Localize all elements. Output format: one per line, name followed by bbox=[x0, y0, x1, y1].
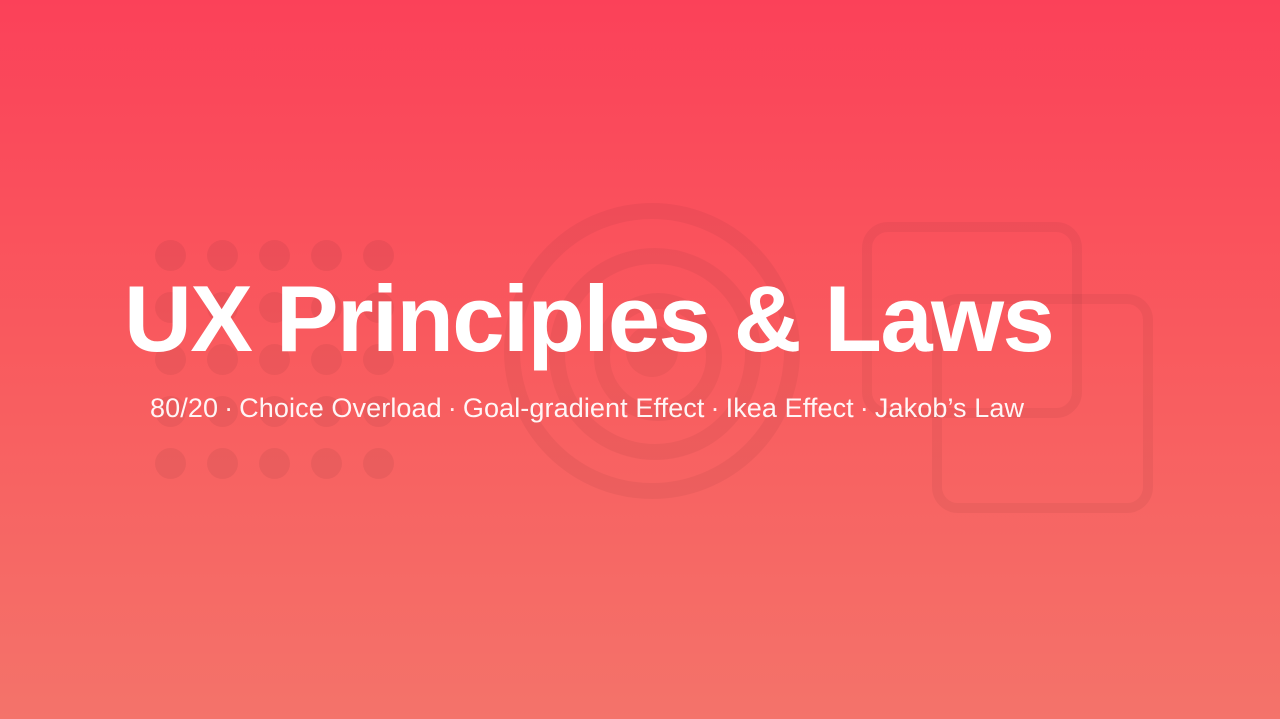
subtitle-separator: · bbox=[442, 393, 463, 423]
subtitle-item: Ikea Effect bbox=[726, 393, 854, 423]
subtitle-item: 80/20 bbox=[150, 393, 218, 423]
page-title: UX Principles & Laws bbox=[124, 268, 1184, 370]
subtitle-separator: · bbox=[854, 393, 875, 423]
grid-dot bbox=[155, 448, 186, 479]
grid-dot bbox=[259, 448, 290, 479]
subtitle-item: Choice Overload bbox=[239, 393, 442, 423]
subtitle-separator: · bbox=[705, 393, 726, 423]
grid-dot bbox=[363, 448, 394, 479]
title-slide: UX Principles & Laws 80/20·Choice Overlo… bbox=[0, 0, 1280, 719]
slide-content: UX Principles & Laws 80/20·Choice Overlo… bbox=[124, 268, 1184, 425]
grid-dot bbox=[311, 448, 342, 479]
subtitle-item: Goal-gradient Effect bbox=[463, 393, 705, 423]
grid-dot bbox=[207, 448, 238, 479]
subtitle-separator: · bbox=[218, 393, 239, 423]
subtitle-item: Jakob’s Law bbox=[875, 393, 1024, 423]
slide-subtitle: 80/20·Choice Overload·Goal-gradient Effe… bbox=[150, 392, 1184, 426]
